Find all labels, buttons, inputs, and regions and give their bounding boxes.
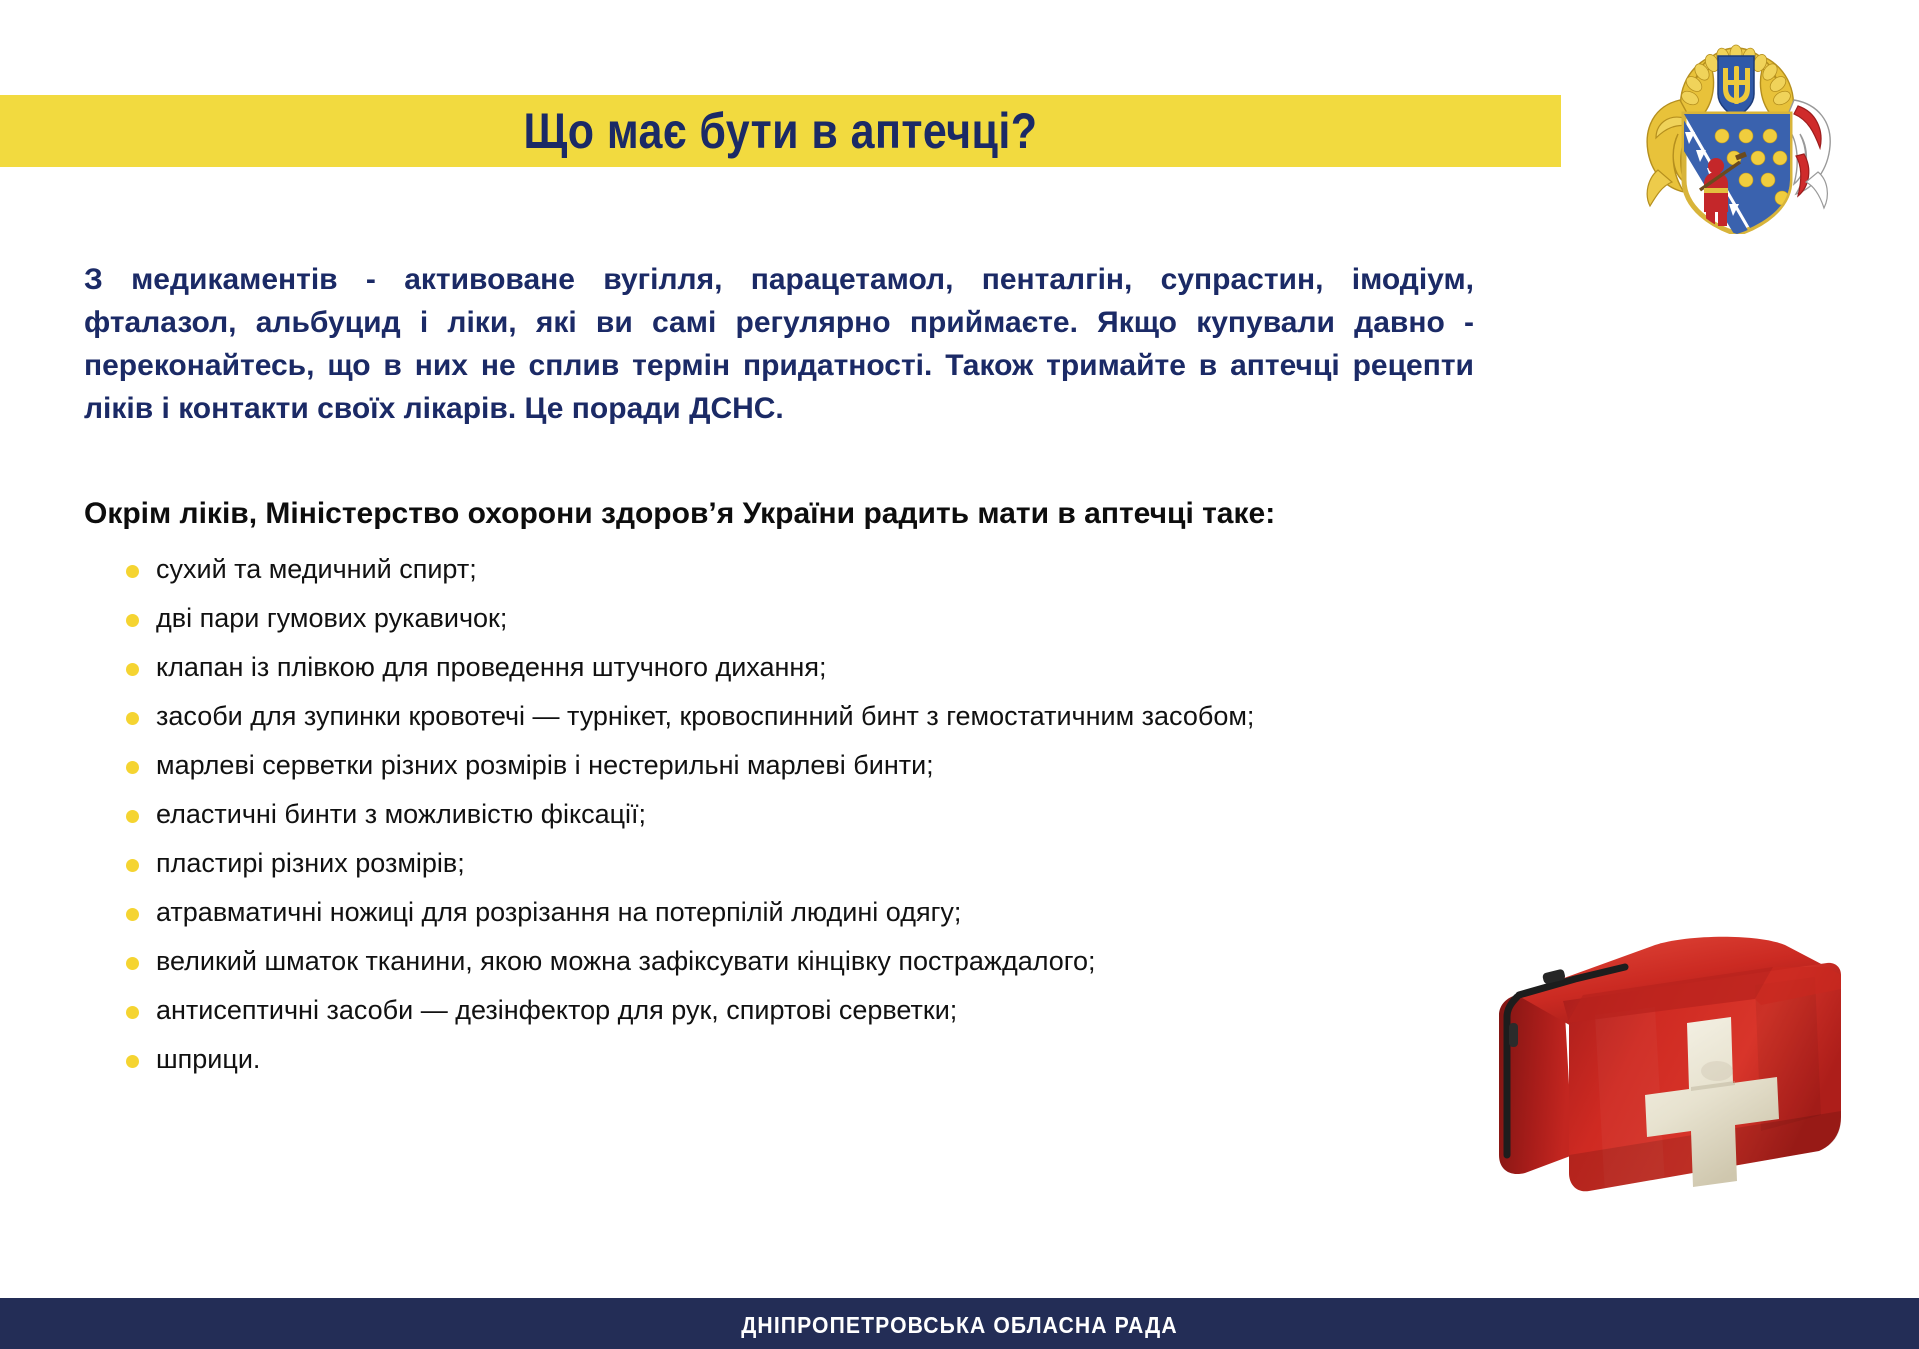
main-shield — [1664, 110, 1790, 234]
intro-paragraph: З медикаментів - активоване вугілля, пар… — [84, 258, 1474, 430]
bullet-dot-icon — [126, 810, 139, 823]
bullet-dot-icon — [126, 1006, 139, 1019]
bullet-dot-icon — [126, 859, 139, 872]
bullet-dot-icon — [126, 1055, 139, 1068]
list-item: пластирі різних розмірів; — [120, 839, 1400, 888]
page-title: Що має бути в аптечці? — [109, 95, 1451, 167]
list-item: марлеві серветки різних розмірів і несте… — [120, 741, 1400, 790]
list-item-label: дві пари гумових рукавичок; — [156, 603, 507, 633]
slide-header: Що має бути в аптечці? — [0, 0, 1919, 240]
bullet-dot-icon — [126, 908, 139, 921]
footer-organization-label: ДНІПРОПЕТРОВСЬКА ОБЛАСНА РАДА — [77, 1298, 1842, 1349]
list-item: клапан із плівкою для проведення штучног… — [120, 643, 1400, 692]
list-item-label: пластирі різних розмірів; — [156, 848, 465, 878]
list-item: шприци. — [120, 1035, 1400, 1084]
list-item: атравматичні ножиці для розрізання на по… — [120, 888, 1400, 937]
list-item: еластичні бинти з можливістю фіксації; — [120, 790, 1400, 839]
bullet-dot-icon — [126, 761, 139, 774]
list-item-label: еластичні бинти з можливістю фіксації; — [156, 799, 646, 829]
list-item-label: атравматичні ножиці для розрізання на по… — [156, 897, 961, 927]
list-item-label: клапан із плівкою для проведення штучног… — [156, 652, 826, 682]
list-item: великий шматок тканини, якою можна зафік… — [120, 937, 1400, 986]
list-item: сухий та медичний спирт; — [120, 545, 1400, 594]
bullet-dot-icon — [126, 565, 139, 578]
bullet-dot-icon — [126, 712, 139, 725]
slide-root: Що має бути в аптечці? — [0, 0, 1919, 1349]
coat-of-arms-emblem — [1622, 22, 1852, 234]
bullet-dot-icon — [126, 663, 139, 676]
list-item-label: шприци. — [156, 1044, 260, 1074]
bullet-dot-icon — [126, 957, 139, 970]
first-aid-kit-image — [1455, 905, 1855, 1205]
trident-shield — [1718, 56, 1754, 117]
checklist: сухий та медичний спирт; дві пари гумови… — [120, 545, 1400, 1084]
list-item: засоби для зупинки кровотечі — турнікет,… — [120, 692, 1400, 741]
list-item-label: засоби для зупинки кровотечі — турнікет,… — [156, 701, 1254, 731]
section-subheading: Окрім ліків, Міністерство охорони здоров… — [84, 495, 1334, 533]
list-item-label: сухий та медичний спирт; — [156, 554, 477, 584]
list-item-label: антисептичні засоби — дезінфектор для ру… — [156, 995, 957, 1025]
list-item: антисептичні засоби — дезінфектор для ру… — [120, 986, 1400, 1035]
bullet-dot-icon — [126, 614, 139, 627]
list-item-label: марлеві серветки різних розмірів і несте… — [156, 750, 934, 780]
list-item-label: великий шматок тканини, якою можна зафік… — [156, 946, 1096, 976]
list-item: дві пари гумових рукавичок; — [120, 594, 1400, 643]
